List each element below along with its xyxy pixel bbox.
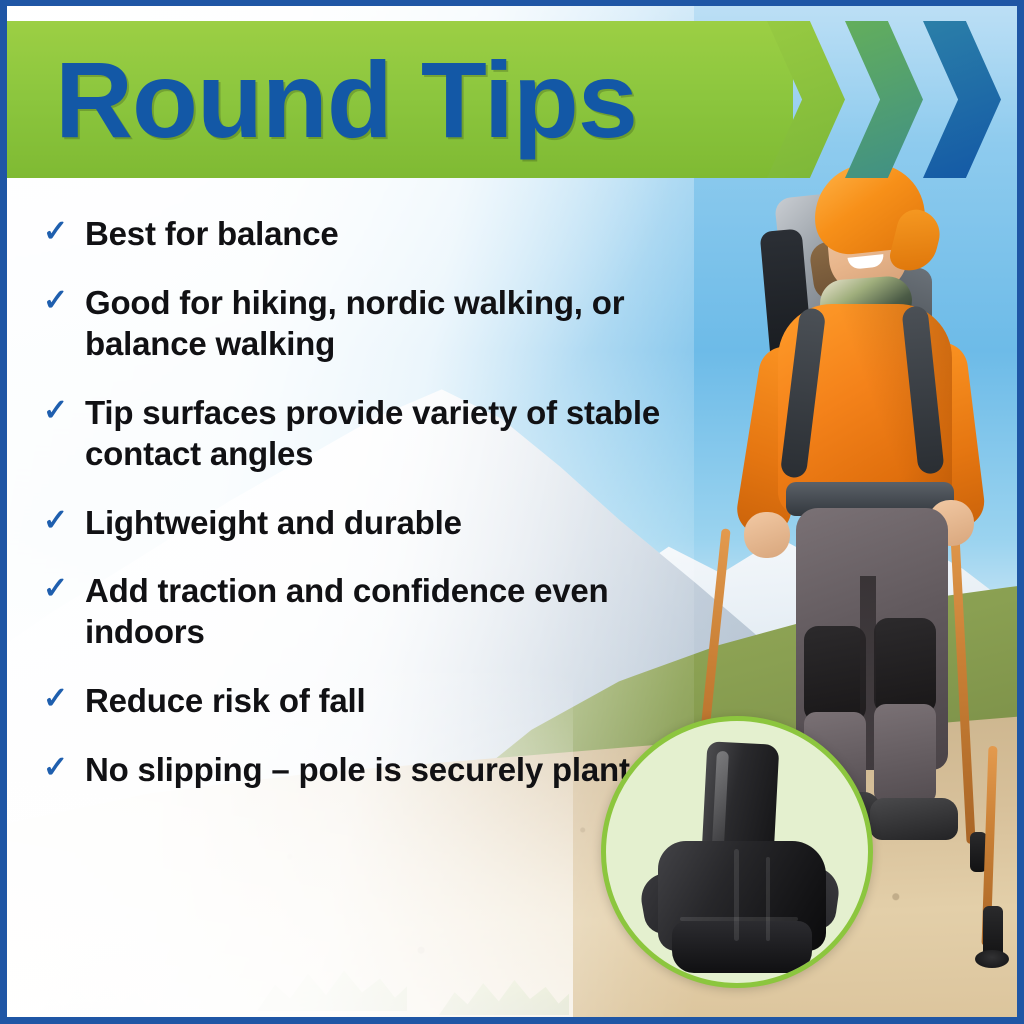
- list-item: ✓ Tip surfaces provide variety of stable…: [43, 393, 679, 475]
- list-item-label: Good for hiking, nordic walking, or bala…: [85, 283, 679, 365]
- list-item: ✓ Reduce risk of fall: [43, 681, 679, 722]
- list-item-label: No slipping – pole is securely planted: [85, 750, 668, 791]
- hiking-boot-right: [870, 798, 958, 840]
- list-item: ✓ Add traction and confidence even indoo…: [43, 571, 679, 653]
- check-icon: ✓: [43, 286, 73, 316]
- check-icon: ✓: [43, 217, 73, 247]
- card-inner-frame: Round Tips ✓ Best for balance ✓ Good for…: [7, 6, 1017, 1017]
- hiker-hand-left: [744, 512, 790, 558]
- check-icon: ✓: [43, 396, 73, 426]
- list-item-label: Tip surfaces provide variety of stable c…: [85, 393, 679, 475]
- list-item: ✓ Best for balance: [43, 214, 679, 255]
- trouser-panel-left: [804, 626, 866, 722]
- benefits-list: ✓ Best for balance ✓ Good for hiking, no…: [43, 214, 679, 819]
- list-item: ✓ Good for hiking, nordic walking, or ba…: [43, 283, 679, 365]
- page-title: Round Tips: [55, 21, 637, 178]
- check-icon: ✓: [43, 753, 73, 783]
- pole-tip-base: [672, 921, 812, 973]
- list-item-label: Lightweight and durable: [85, 503, 462, 544]
- list-item: ✓ No slipping – pole is securely planted: [43, 750, 679, 791]
- list-item-label: Add traction and confidence even indoors: [85, 571, 679, 653]
- list-item: ✓ Lightweight and durable: [43, 503, 679, 544]
- hiker-shin-right: [874, 704, 936, 804]
- product-inset-circle: [601, 716, 873, 988]
- infographic-card: Round Tips ✓ Best for balance ✓ Good for…: [0, 0, 1024, 1024]
- list-item-label: Reduce risk of fall: [85, 681, 365, 722]
- foreground-pole-basket: [975, 950, 1009, 968]
- trouser-panel-right: [874, 618, 936, 714]
- pole-tip-groove: [680, 917, 798, 921]
- check-icon: ✓: [43, 684, 73, 714]
- pole-tip-groove: [734, 849, 739, 941]
- check-icon: ✓: [43, 574, 73, 604]
- list-item-label: Best for balance: [85, 214, 339, 255]
- pole-tip-groove: [766, 857, 770, 941]
- check-icon: ✓: [43, 506, 73, 536]
- trekking-pole-right: [949, 514, 975, 844]
